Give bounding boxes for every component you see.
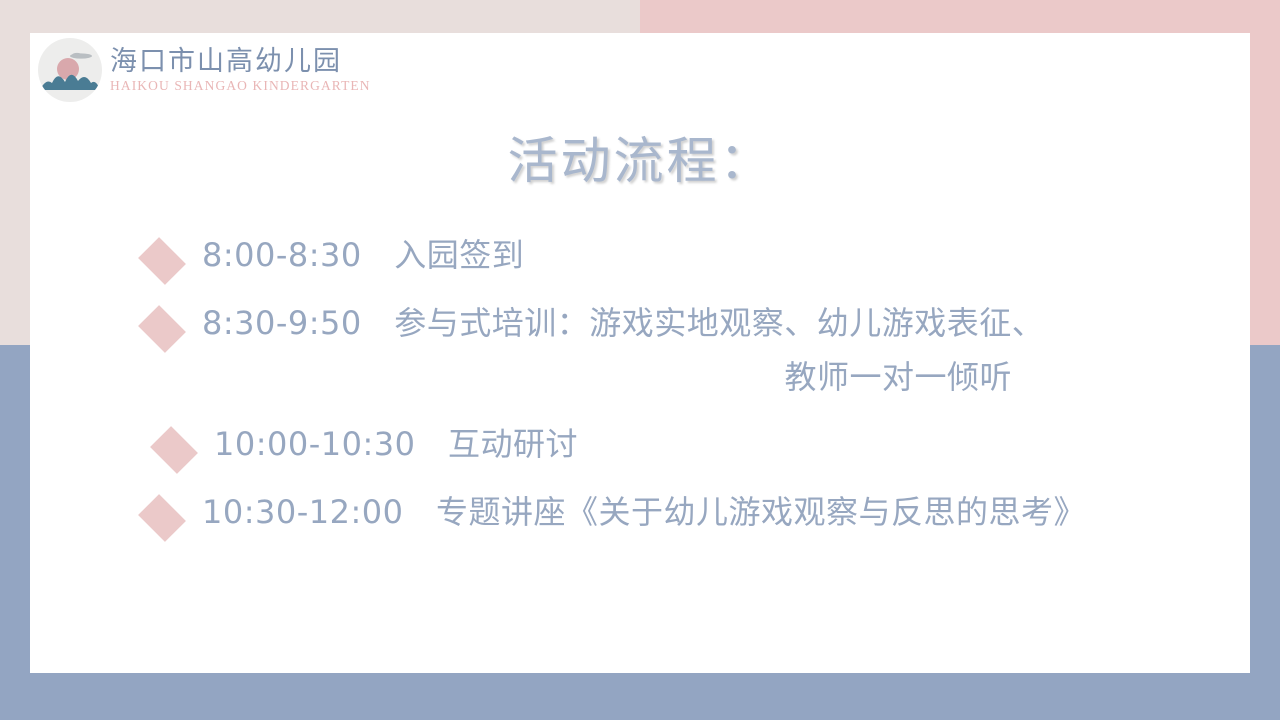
mountain-icon xyxy=(38,62,102,90)
agenda-item-2-text: 8:30-9:50 参与式培训：游戏实地观察、幼儿游戏表征、 xyxy=(202,301,1250,346)
page-title: 活动流程： xyxy=(30,121,1250,193)
slide-canvas: 海口市山高幼儿园 HAIKOU SHANGAO KINDERGARTEN 活动流… xyxy=(0,0,1280,720)
agenda-item-4-text: 10:30-12:00 专题讲座《关于幼儿游戏观察与反思的思考》 xyxy=(202,490,1250,535)
agenda-item-3-text: 10:00-10:30 互动研讨 xyxy=(214,422,1250,467)
agenda-item-1: 8:00-8:30 入园签到 xyxy=(136,233,1250,281)
brand-name-cn: 海口市山高幼儿园 xyxy=(110,46,371,77)
cloud-icon xyxy=(69,52,93,60)
brand-logo-lockup: 海口市山高幼儿园 HAIKOU SHANGAO KINDERGARTEN xyxy=(38,38,371,102)
agenda-item-3: 10:00-10:30 互动研讨 xyxy=(148,422,1250,470)
agenda-item-1-text: 8:00-8:30 入园签到 xyxy=(202,233,1250,278)
brand-text: 海口市山高幼儿园 HAIKOU SHANGAO KINDERGARTEN xyxy=(110,46,371,94)
diamond-bullet-icon xyxy=(136,309,188,349)
agenda-item-4: 10:30-12:00 专题讲座《关于幼儿游戏观察与反思的思考》 xyxy=(136,490,1250,538)
diamond-bullet-icon xyxy=(136,241,188,281)
agenda-item-2-continuation-text: 教师一对一倾听 xyxy=(202,355,1250,400)
brand-name-en: HAIKOU SHANGAO KINDERGARTEN xyxy=(110,78,371,94)
sun-mountain-cloud-icon xyxy=(38,38,102,102)
diamond-bullet-icon xyxy=(136,498,188,538)
diamond-bullet-icon xyxy=(148,430,200,470)
slide-content-card: 海口市山高幼儿园 HAIKOU SHANGAO KINDERGARTEN 活动流… xyxy=(30,33,1250,673)
agenda-item-2-continuation: 教师一对一倾听 xyxy=(136,355,1250,400)
agenda-list: 8:00-8:30 入园签到 8:30-9:50 参与式培训：游戏实地观察、幼儿… xyxy=(30,233,1250,558)
agenda-item-2: 8:30-9:50 参与式培训：游戏实地观察、幼儿游戏表征、 xyxy=(136,301,1250,349)
